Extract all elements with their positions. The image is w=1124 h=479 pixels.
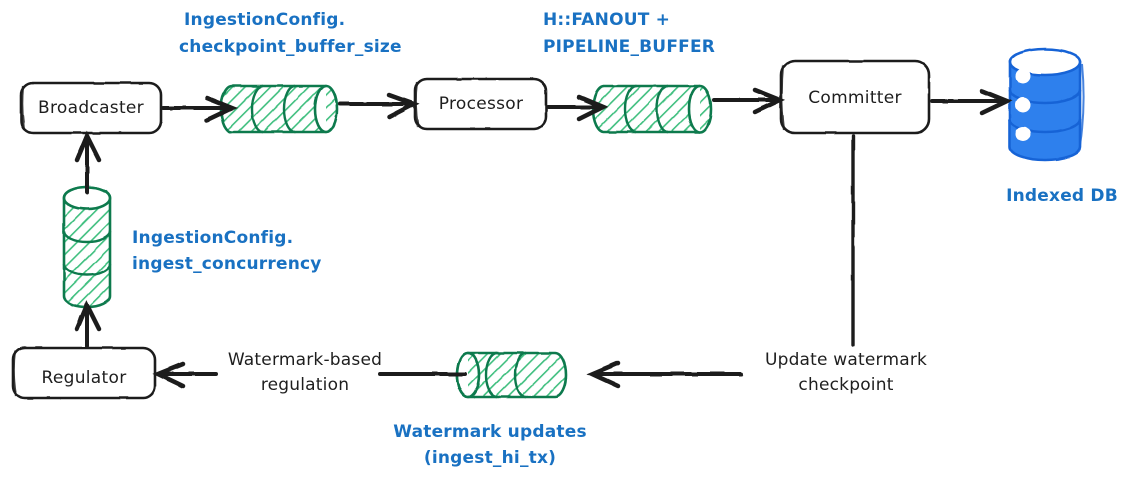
buffer-watermark-buffer: [457, 353, 566, 397]
diagram-canvas: Broadcaster Processor Committer Regulato…: [0, 0, 1124, 479]
arrow-committer-to-indexed-db: [932, 91, 1007, 113]
pipeline-buffer-caption-line2: PIPELINE_BUFFER: [543, 37, 715, 58]
ingest-concurrency-caption-line2: ingest_concurrency: [132, 254, 322, 275]
checkpoint-buffer-caption-line1: IngestionConfig.: [184, 10, 345, 31]
node-label-broadcaster: Broadcaster: [38, 98, 144, 118]
arrow-pipeline-buffer-to-committer: [714, 90, 780, 112]
arrow-ingest-buffer-to-broadcaster: [77, 136, 99, 192]
node-label-regulator: Regulator: [42, 368, 127, 388]
arrow-regulator-to-ingest-buffer: [77, 305, 99, 346]
buffer-ingest-concurrency-buffer: [64, 187, 110, 307]
edge-label-watermark-regulation-line2: regulation: [261, 375, 349, 396]
node-label-committer: Committer: [808, 88, 902, 108]
ingest-concurrency-caption-line1: IngestionConfig.: [132, 228, 293, 249]
indexed-db-label: Indexed DB: [1006, 186, 1118, 207]
checkpoint-buffer-caption-line2: checkpoint_buffer_size: [179, 37, 402, 58]
buffer-checkpoint-buffer: [221, 86, 337, 132]
arrow-checkpoint-buffer-to-processor: [340, 95, 414, 117]
watermark-buffer-caption-line1: Watermark updates: [393, 422, 587, 443]
arrow-update-watermark-to-buffer: [592, 363, 741, 386]
arrow-watermark-to-regulator: [158, 364, 216, 386]
buffer-pipeline-buffer: [593, 86, 711, 132]
edge-label-watermark-regulation-line1: Watermark-based: [228, 350, 382, 371]
indexed-db-cylinder: [1010, 49, 1084, 160]
watermark-buffer-caption-line2: (ingest_hi_tx): [424, 448, 556, 469]
node-label-processor: Processor: [439, 94, 524, 114]
edge-label-update-watermark-line2: checkpoint: [798, 375, 893, 396]
pipeline-buffer-caption-line1: H::FANOUT +: [543, 10, 670, 31]
edge-label-update-watermark-line1: Update watermark: [765, 350, 927, 371]
